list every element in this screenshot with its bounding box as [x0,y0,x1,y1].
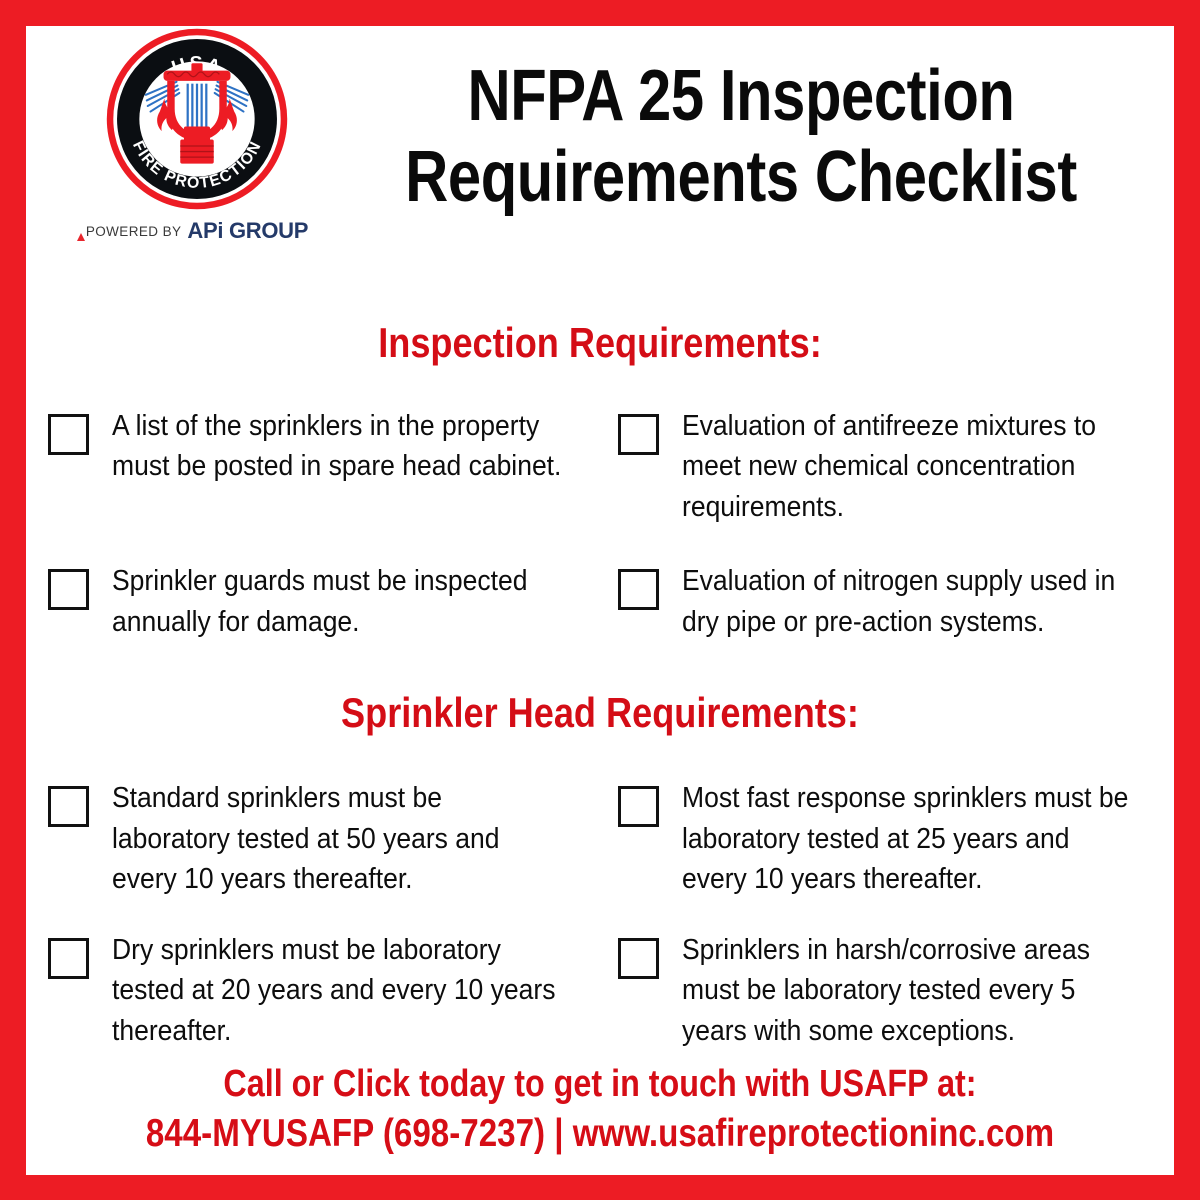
checklist-item[interactable]: Standard sprinklers must be laboratory t… [48,778,596,899]
checkbox[interactable] [48,786,89,827]
checklist-item[interactable]: Dry sprinklers must be laboratory tested… [48,930,596,1051]
checklist-item[interactable]: Evaluation of antifreeze mixtures to mee… [618,406,1166,527]
page-title-line-2: Requirements Checklist [397,137,1086,218]
checklist-item-label: Evaluation of nitrogen supply used in dr… [682,561,1132,642]
checkbox[interactable] [618,569,659,610]
checklist-item[interactable]: Evaluation of nitrogen supply used in dr… [618,561,1166,642]
section-heading-sprinkler-head-requirements: Sprinkler Head Requirements: [106,692,1093,734]
checkbox[interactable] [618,786,659,827]
checklist-item-label: Most fast response sprinklers must be la… [682,778,1132,899]
page-title-line-1: NFPA 25 Inspection [397,56,1086,137]
checklist-item-label: Dry sprinklers must be laboratory tested… [112,930,562,1051]
checklist-item-label: Standard sprinklers must be laboratory t… [112,778,562,899]
checkbox[interactable] [48,414,89,455]
brand-block: USA FIRE PROTECTION [72,26,322,242]
checklist-item-label: Evaluation of antifreeze mixtures to mee… [682,406,1132,527]
checklist-item-label: A list of the sprinklers in the property… [112,406,562,487]
header: USA FIRE PROTECTION [26,26,1174,276]
poster-red-frame: USA FIRE PROTECTION [0,0,1200,1200]
checkbox[interactable] [48,938,89,979]
footer-contact-line[interactable]: 844-MYUSAFP (698-7237) | www.usafireprot… [112,1109,1088,1159]
checklist-item[interactable]: A list of the sprinklers in the property… [48,406,596,527]
powered-by-label: POWERED BY [86,224,182,239]
usa-fire-protection-logo-icon: USA FIRE PROTECTION [104,26,290,212]
checklist-item[interactable]: Sprinkler guards must be inspected annua… [48,561,596,642]
checkbox[interactable] [618,938,659,979]
checklist-item[interactable]: Most fast response sprinklers must be la… [618,778,1166,899]
checklist-sprinkler-head-requirements: Standard sprinklers must be laboratory t… [26,778,1174,1051]
checkbox[interactable] [48,569,89,610]
checklist-inspection-requirements: A list of the sprinklers in the property… [26,406,1174,642]
checkbox[interactable] [618,414,659,455]
page-title: NFPA 25 Inspection Requirements Checklis… [326,56,1156,217]
poster-canvas: USA FIRE PROTECTION [26,26,1174,1175]
api-group-logo-icon: APi GROUP [187,220,308,242]
checklist-item[interactable]: Sprinklers in harsh/corrosive areas must… [618,930,1166,1051]
section-heading-inspection-requirements: Inspection Requirements: [106,322,1093,364]
footer-cta: Call or Click today to get in touch with… [26,1060,1174,1159]
checklist-item-label: Sprinklers in harsh/corrosive areas must… [682,930,1132,1051]
checklist-item-label: Sprinkler guards must be inspected annua… [112,561,562,642]
api-triangle-icon [77,233,85,241]
powered-by-api-group: POWERED BY APi GROUP [72,220,322,242]
footer-cta-line-1: Call or Click today to get in touch with… [112,1060,1088,1109]
api-group-wordmark: APi GROUP [187,220,308,242]
